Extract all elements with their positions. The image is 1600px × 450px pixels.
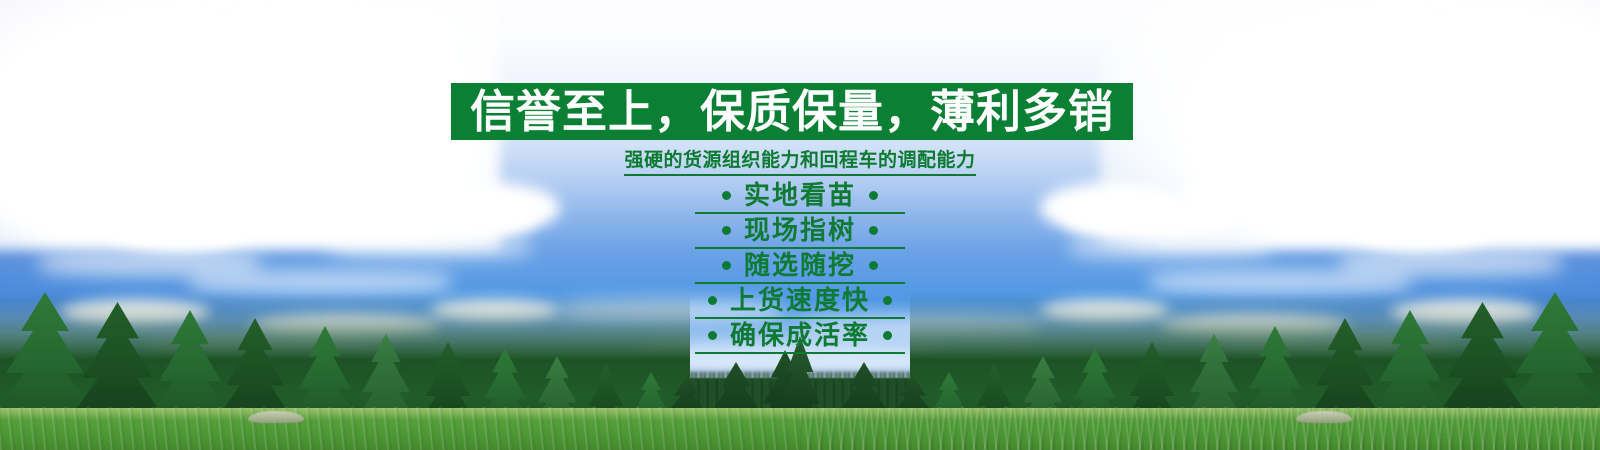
- bullet-dot-icon: [722, 226, 731, 235]
- feature-label: 实地看苗: [744, 183, 856, 209]
- feature-item: 现场指树: [0, 213, 1600, 248]
- bullet-dot-icon: [722, 261, 731, 270]
- bullet-dot-icon: [883, 296, 892, 305]
- headline-banner: 信誉至上，保质保量，薄利多销: [451, 83, 1133, 140]
- promo-banner: 信誉至上，保质保量，薄利多销 强硬的货源组织能力和回程车的调配能力 实地看苗 现…: [0, 0, 1600, 450]
- banner-text-layer: 信誉至上，保质保量，薄利多销 强硬的货源组织能力和回程车的调配能力 实地看苗 现…: [0, 0, 1600, 450]
- feature-item: 随选随挖: [0, 248, 1600, 283]
- feature-label: 随选随挖: [744, 253, 856, 279]
- feature-item: 实地看苗: [0, 178, 1600, 213]
- feature-label: 现场指树: [744, 218, 856, 244]
- feature-label: 上货速度快: [730, 288, 870, 314]
- feature-list: 实地看苗 现场指树 随选随挖 上货速度快: [0, 178, 1600, 353]
- feature-item: 确保成活率: [0, 318, 1600, 353]
- subtitle: 强硬的货源组织能力和回程车的调配能力: [0, 145, 1600, 172]
- feature-item: 上货速度快: [0, 283, 1600, 318]
- bullet-dot-icon: [708, 331, 717, 340]
- feature-label: 确保成活率: [730, 323, 870, 349]
- bullet-dot-icon: [708, 296, 717, 305]
- bullet-dot-icon: [883, 331, 892, 340]
- bullet-dot-icon: [869, 261, 878, 270]
- bullet-dot-icon: [869, 191, 878, 200]
- bullet-dot-icon: [869, 226, 878, 235]
- bullet-dot-icon: [722, 191, 731, 200]
- subtitle-text: 强硬的货源组织能力和回程车的调配能力: [624, 149, 975, 176]
- headline-text: 信誉至上，保质保量，薄利多销: [470, 89, 1114, 134]
- feature-underline: [695, 352, 905, 354]
